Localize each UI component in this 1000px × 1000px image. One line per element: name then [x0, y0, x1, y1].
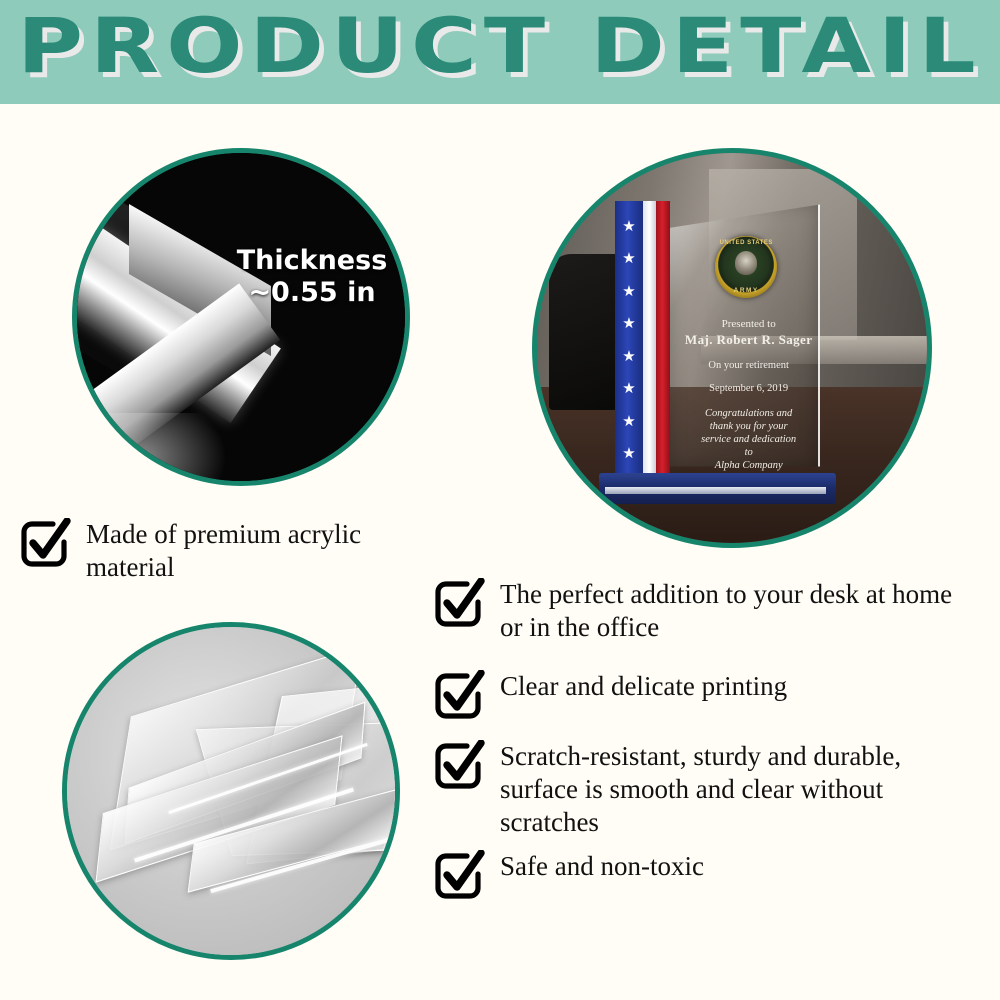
star-icon: ★	[622, 284, 635, 299]
product-detail-page: PRODUCT DETAIL Thickness ~0.55 in ★ ★ ★	[0, 0, 1000, 1000]
feature-item-safe-non-toxic: Safe and non-toxic	[434, 850, 974, 902]
thickness-photo-circle: Thickness ~0.55 in	[72, 148, 410, 486]
feature-text: Made of premium acrylic material	[86, 518, 440, 584]
star-icon: ★	[622, 381, 635, 396]
star-icon: ★	[622, 219, 635, 234]
seal-top-text: UNITED STATES	[715, 240, 777, 246]
engraving-message-1: Congratulations and	[679, 407, 818, 420]
thickness-label-line2: ~0.55 in	[217, 277, 407, 309]
checkbox-checked-icon	[434, 670, 486, 722]
engraving-recipient-name: Maj. Robert R. Sager	[679, 331, 818, 349]
feature-text: Clear and delicate printing	[500, 670, 787, 703]
checkbox-checked-icon	[20, 518, 72, 570]
feature-item-clear-printing: Clear and delicate printing	[434, 670, 974, 722]
award-plaque-photo-circle: ★ ★ ★ ★ ★ ★ ★ ★ UNITED STATES ARMY Prese…	[532, 148, 932, 548]
checkbox-checked-icon	[434, 850, 486, 902]
flag-red-stripe	[656, 201, 670, 479]
checkbox-checked-icon	[434, 578, 486, 630]
engraving-occasion: On your retirement	[679, 359, 818, 372]
feature-item-premium-acrylic: Made of premium acrylic material	[20, 518, 440, 584]
us-army-seal-icon: UNITED STATES ARMY	[715, 236, 777, 298]
seal-bottom-text: ARMY	[715, 287, 777, 294]
engraving-message-4: to	[679, 446, 818, 459]
engraving-presented-to: Presented to	[679, 317, 818, 331]
acrylic-glow	[77, 413, 227, 486]
star-icon: ★	[622, 414, 635, 429]
flag-stars: ★ ★ ★ ★ ★ ★ ★ ★	[615, 201, 643, 479]
engraving-message-2: thank you for your	[679, 420, 818, 433]
acrylic-sheets-photo-circle	[62, 622, 400, 960]
header-banner: PRODUCT DETAIL	[0, 0, 1000, 104]
plaque-engraving: Presented to Maj. Robert R. Sager On you…	[679, 317, 818, 472]
page-title: PRODUCT DETAIL	[0, 4, 1000, 88]
feature-item-desk-addition: The perfect addition to your desk at hom…	[434, 578, 974, 644]
feature-text: Scratch-resistant, sturdy and durable, s…	[500, 740, 974, 839]
star-icon: ★	[622, 316, 635, 331]
feature-item-scratch-resistant: Scratch-resistant, sturdy and durable, s…	[434, 740, 974, 839]
star-icon: ★	[622, 251, 635, 266]
star-icon: ★	[622, 349, 635, 364]
checkbox-checked-icon	[434, 740, 486, 792]
thickness-label: Thickness ~0.55 in	[217, 245, 407, 309]
engraving-organization: Alpha Company	[679, 459, 818, 472]
flag-white-stripe	[643, 201, 656, 479]
plaque-base-strip	[605, 487, 826, 494]
feature-text: Safe and non-toxic	[500, 850, 704, 883]
engraving-message-3: service and dedication	[679, 433, 818, 446]
engraving-date: September 6, 2019	[679, 382, 818, 395]
star-icon: ★	[622, 446, 635, 461]
acrylic-award-plaque: ★ ★ ★ ★ ★ ★ ★ ★ UNITED STATES ARMY Prese…	[599, 192, 856, 504]
thickness-label-line1: Thickness	[217, 245, 407, 277]
feature-text: The perfect addition to your desk at hom…	[500, 578, 974, 644]
